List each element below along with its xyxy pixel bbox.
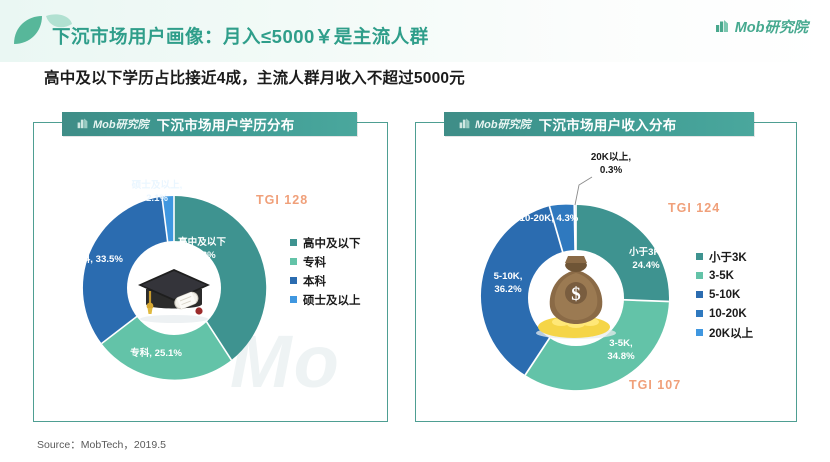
page-subtitle: 高中及以下学历占比接近4成，主流人群月收入不超过5000元 <box>44 66 465 88</box>
legend-label: 20K以上 <box>709 325 753 341</box>
inc-label-3-5k: 3-5K, 34.8% <box>581 338 661 364</box>
legend-label: 3-5K <box>709 270 734 282</box>
legend-swatch-icon <box>290 296 297 303</box>
legend-item-education[interactable]: 硕士及以上 <box>290 290 361 309</box>
inc-label-5-10k: 5-10K, 36.2% <box>468 271 548 297</box>
inc-label-20k-plus: 20K以上, 0.3% <box>556 151 666 177</box>
panel-income: Mob研究院 下沉市场用户收入分布 ben <box>415 122 797 422</box>
page-title: 下沉市场用户画像：月入≤5000￥是主流人群 <box>52 23 429 49</box>
legend-swatch-icon <box>290 277 297 284</box>
legend-item-income[interactable]: 小于3K <box>696 247 753 266</box>
inc-tgi-annotation: TGI 107 <box>629 378 681 392</box>
inc-tgi-124-annotation: TGI 124 <box>668 201 720 215</box>
legend-item-education[interactable]: 高中及以下 <box>290 233 361 252</box>
legend-item-income[interactable]: 20K以上 <box>696 323 753 342</box>
legend-swatch-icon <box>290 258 297 265</box>
legend-swatch-icon <box>696 329 703 336</box>
legend-income: 小于3K 3-5K 5-10K 10-20K 20K以上 <box>696 247 753 342</box>
legend-label: 5-10K <box>709 289 740 301</box>
legend-item-income[interactable]: 10-20K <box>696 304 753 323</box>
legend-swatch-icon <box>696 253 703 260</box>
source-note: Source：MobTech，2019.5 <box>37 437 166 452</box>
svg-text:$: $ <box>571 284 581 305</box>
legend-label: 硕士及以上 <box>303 292 361 308</box>
legend-swatch-icon <box>696 291 703 298</box>
legend-swatch-icon <box>696 272 703 279</box>
legend-swatch-icon <box>696 310 703 317</box>
legend-label: 小于3K <box>709 249 747 265</box>
legend-label: 10-20K <box>709 308 747 320</box>
slide-page: 下沉市场用户画像：月入≤5000￥是主流人群 高中及以下学历占比接近4成，主流人… <box>0 0 830 462</box>
legend-item-education[interactable]: 专科 <box>290 252 361 271</box>
mob-logo-icon <box>714 17 730 37</box>
inc-label-10-20k: 10-20K, 4.3% <box>496 213 602 226</box>
legend-label: 高中及以下 <box>303 235 361 251</box>
legend-item-income[interactable]: 5-10K <box>696 285 753 304</box>
panel-education: Mob研究院 下沉市场用户学历分布 Mo <box>33 122 388 422</box>
edu-label-high-school: 高中及以下 39.3% <box>160 237 244 263</box>
legend-item-education[interactable]: 本科 <box>290 271 361 290</box>
brand-logo: Mob研究院 <box>714 16 808 37</box>
legend-item-income[interactable]: 3-5K <box>696 266 753 285</box>
edu-label-bachelor: 本科, 33.5% <box>47 254 147 267</box>
legend-label: 本科 <box>303 273 326 289</box>
edu-label-college: 专科, 25.1% <box>106 348 206 361</box>
brand-label: Mob研究院 <box>735 16 808 37</box>
legend-swatch-icon <box>290 239 297 246</box>
legend-education: 高中及以下 专科 本科 硕士及以上 <box>290 233 361 309</box>
edu-label-master: 硕士及以上, 2.1% <box>107 180 207 206</box>
inc-label-lt3k: 小于3K, 24.4% <box>606 247 686 273</box>
edu-tgi-annotation: TGI 128 <box>256 193 308 207</box>
legend-label: 专科 <box>303 254 326 270</box>
